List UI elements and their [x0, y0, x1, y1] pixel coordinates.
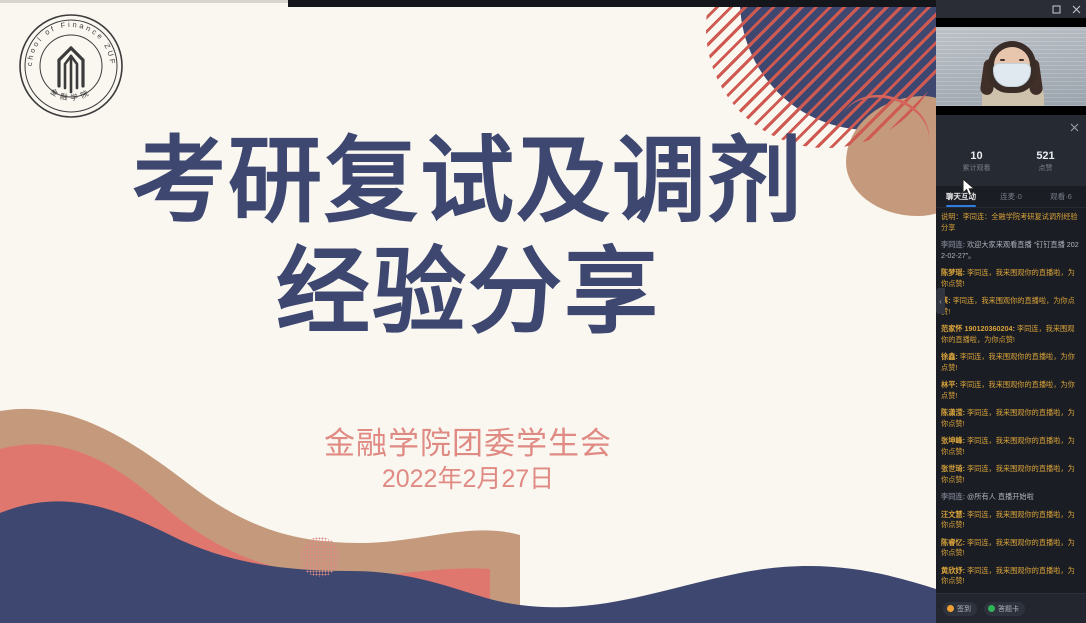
- chat-message: 张坤峰: 李同连，我来围观你的直播啦，为你点赞!: [941, 436, 1081, 457]
- screen-bezel-strip-left: [0, 0, 288, 3]
- quiz-label: 答题卡: [998, 604, 1019, 614]
- stat-likes-value: 521: [1011, 149, 1080, 163]
- chat-message: 黄欣妤: 李同连，我来围观你的直播啦，为你点赞!: [941, 566, 1081, 587]
- chat-message: 陈潇滢: 李同连，我来围观你的直播啦，为你点赞!: [941, 408, 1081, 429]
- tab-chat[interactable]: 聊天互动: [936, 186, 986, 207]
- panel-collapse-handle[interactable]: ‹: [936, 288, 945, 314]
- panel-tabs: 聊天互动 连麦·0 观看·6: [936, 186, 1086, 208]
- decor-bottom-waves: [0, 393, 936, 623]
- quiz-card-button[interactable]: 答题卡: [984, 602, 1025, 616]
- chat-message: 李同连: @所有人 直播开始啦: [941, 492, 1081, 503]
- stat-views-label: 累计观看: [942, 163, 1011, 174]
- chat-message-body: 说明：李同连：全融学院考研复试调剂经验分享: [941, 212, 1078, 232]
- live-side-panel: 10 累计观看 521 点赞 聊天互动 连麦·0 观看·6 说明：李同连：全融学…: [936, 0, 1086, 623]
- chat-message: 说明：李同连：全融学院考研复试调剂经验分享: [941, 212, 1081, 233]
- panel-header: [936, 115, 1086, 141]
- video-person-eye-left: [1000, 59, 1005, 61]
- signin-button[interactable]: 签到: [943, 602, 977, 616]
- chat-message: 张世琦: 李同连，我来围观你的直播啦，为你点赞!: [941, 464, 1081, 485]
- chat-message-author: 林平:: [941, 380, 958, 389]
- slide-title: 考研复试及调剂 经验分享: [0, 126, 936, 348]
- chat-message: 徐鑫: 李同连，我来围观你的直播啦，为你点赞!: [941, 352, 1081, 373]
- presenter-video[interactable]: [936, 18, 1086, 115]
- stat-views: 10 累计观看: [942, 149, 1011, 174]
- chat-message-author: 张世琦:: [941, 464, 965, 473]
- signin-dot-icon: [947, 605, 954, 612]
- window-titlebar: [936, 0, 1086, 18]
- tab-mic[interactable]: 连麦·0: [986, 186, 1036, 207]
- chat-message-author: 陈潇滢:: [941, 408, 965, 417]
- chat-message-author: 李同连:: [941, 240, 965, 249]
- presentation-slide: School of Finance ZUFE 金融学院 考研复试及调剂 经验分享…: [0, 0, 936, 623]
- video-person-eye-right: [1019, 59, 1024, 61]
- chat-message: 陈梦瑶: 李同连，我来围观你的直播啦，为你点赞!: [941, 268, 1081, 289]
- slide-title-line2: 经验分享: [0, 237, 936, 348]
- chat-message: 蔡: 李同连，我来围观你的直播啦，为你点赞!: [941, 296, 1081, 317]
- chat-message-list[interactable]: 说明：李同连：全融学院考研复试调剂经验分享李同连: 欢迎大家来观看直播 “钉钉直…: [936, 208, 1086, 593]
- chat-message-body: @所有人 直播开始啦: [965, 492, 1034, 501]
- tab-viewers[interactable]: 观看·6: [1036, 186, 1086, 207]
- chat-message-author: 陈梦瑶:: [941, 268, 965, 277]
- slide-title-line1: 考研复试及调剂: [132, 128, 804, 233]
- chat-message-author: 范家怀 190120360204:: [941, 324, 1015, 333]
- chat-message: 汪文慧: 李同连，我来围观你的直播啦，为你点赞!: [941, 510, 1081, 531]
- chat-message: 范家怀 190120360204: 李同连，我来围观你的直播啦，为你点赞!: [941, 324, 1081, 345]
- signin-label: 签到: [957, 604, 971, 614]
- chat-message-body: 李同连，我来围观你的直播啦，为你点赞!: [941, 296, 1075, 316]
- stat-views-value: 10: [942, 149, 1011, 163]
- chat-action-bar: 签到 答题卡: [936, 593, 1086, 623]
- stats-bar: 10 累计观看 521 点赞: [936, 141, 1086, 186]
- chat-message-author: 李同连:: [941, 492, 965, 501]
- mouse-cursor: [962, 178, 976, 198]
- chat-message-body: 李同连，我来围观你的直播啦，为你点赞!: [941, 380, 1075, 400]
- chat-message: 林平: 李同连，我来围观你的直播啦，为你点赞!: [941, 380, 1081, 401]
- stat-likes: 521 点赞: [1011, 149, 1080, 174]
- live-stream-window: School of Finance ZUFE 金融学院 考研复试及调剂 经验分享…: [0, 0, 1086, 623]
- chat-message-author: 黄欣妤:: [941, 566, 965, 575]
- screen-bezel-strip: [288, 0, 936, 7]
- video-feed: [936, 27, 1086, 106]
- chat-message-author: 汪文慧:: [941, 510, 965, 519]
- chat-message: 李同连: 欢迎大家来观看直播 “钉钉直播 2022-02-27”。: [941, 240, 1081, 261]
- panel-close-icon[interactable]: [1070, 119, 1079, 137]
- maximize-icon[interactable]: [1050, 3, 1062, 15]
- chat-message-author: 徐鑫:: [941, 352, 958, 361]
- chat-message-body: 李同连，我来围观你的直播啦，为你点赞!: [941, 352, 1075, 372]
- chat-message-author: 张坤峰:: [941, 436, 965, 445]
- close-icon[interactable]: [1070, 3, 1082, 15]
- chat-message-author: 陈睿忆:: [941, 538, 965, 547]
- quiz-dot-icon: [988, 605, 995, 612]
- stat-likes-label: 点赞: [1011, 163, 1080, 174]
- decor-dotted-circle: [300, 537, 340, 577]
- chat-message: 陈睿忆: 李同连，我来围观你的直播啦，为你点赞!: [941, 538, 1081, 559]
- school-logo: School of Finance ZUFE 金融学院: [17, 12, 125, 120]
